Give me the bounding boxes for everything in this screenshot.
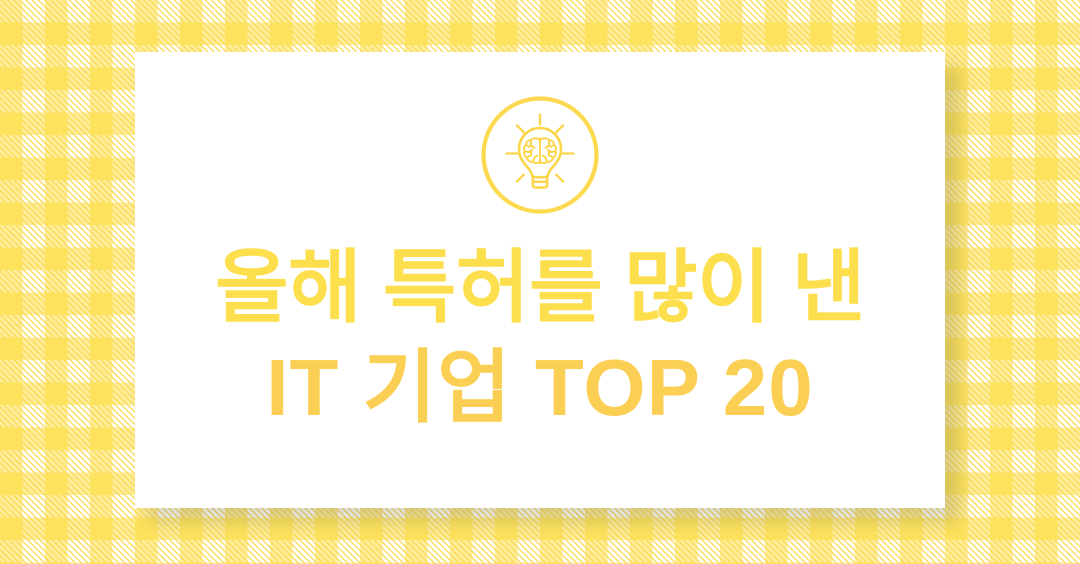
white-content-card: 올해 특허를 많이 낸 IT 기업 TOP 20 bbox=[135, 52, 945, 508]
headline-line-1: 올해 특허를 많이 낸 bbox=[135, 248, 945, 348]
brain-inside-bulb bbox=[524, 138, 556, 163]
lightbulb-brain-icon-svg bbox=[480, 95, 600, 215]
bulb-screw-base bbox=[533, 177, 548, 187]
poster-headline: 올해 특허를 많이 낸 IT 기업 TOP 20 bbox=[135, 248, 945, 428]
lightbulb-brain-icon bbox=[480, 95, 600, 215]
poster-canvas: 올해 특허를 많이 낸 IT 기업 TOP 20 bbox=[0, 0, 1080, 564]
headline-line-2: IT 기업 TOP 20 bbox=[135, 348, 945, 428]
